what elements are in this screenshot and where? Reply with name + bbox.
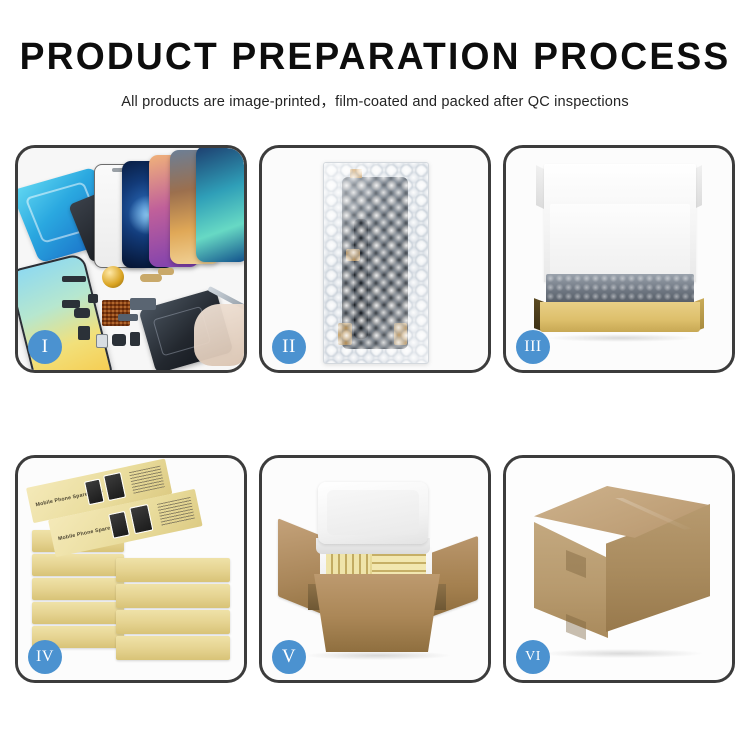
drop-shadow: [542, 649, 702, 658]
foam-sheet: [550, 204, 690, 274]
small-part: [88, 294, 98, 303]
technician-hand: [194, 304, 244, 366]
stacked-box: [116, 584, 230, 608]
small-part: [130, 298, 156, 310]
step-panel-1[interactable]: I: [15, 145, 247, 373]
bubble-wrap-bag: [323, 162, 429, 364]
page-subtitle: All products are image-printed，film-coat…: [0, 90, 750, 111]
small-part: [96, 334, 108, 348]
box-screen-image: [108, 511, 130, 539]
page-header: PRODUCT PREPARATION PROCESS All products…: [0, 0, 750, 111]
small-part: [118, 314, 138, 321]
stacked-box: [116, 636, 230, 660]
small-part: [78, 326, 90, 340]
step-badge-2: II: [272, 330, 306, 364]
box-screen-image: [84, 478, 105, 505]
step-badge-3: III: [516, 330, 550, 364]
step-badge-6: VI: [516, 640, 550, 674]
circuit-board-part: [102, 300, 130, 326]
drop-shadow: [306, 651, 450, 660]
small-part: [62, 276, 86, 282]
bubble-wrapped-contents: [546, 274, 694, 304]
flex-cable-part: [158, 268, 174, 275]
foam-lid: [318, 482, 428, 544]
step-badge-4: IV: [28, 640, 62, 674]
stacked-box: [32, 578, 124, 600]
small-part: [130, 332, 140, 346]
box-spec-lines: [129, 466, 165, 494]
step-panel-5[interactable]: V: [259, 455, 491, 683]
small-part: [74, 308, 90, 318]
plastic-sheen: [324, 163, 428, 363]
step-panel-4[interactable]: Mobile Phone Spare Parts Mobile Phone Sp…: [15, 455, 247, 683]
small-part: [112, 334, 126, 346]
step-panel-6[interactable]: VI: [503, 455, 735, 683]
carton-front-wall: [302, 574, 452, 652]
phone-display-teal: [196, 148, 244, 262]
box-screen-image: [129, 504, 153, 534]
stacked-box: [116, 610, 230, 634]
gold-component: [102, 266, 124, 288]
stacked-box: [32, 554, 124, 576]
flex-cable-part: [140, 274, 162, 282]
page-title: PRODUCT PREPARATION PROCESS: [8, 38, 743, 76]
stacked-box: [32, 602, 124, 624]
step-badge-1: I: [28, 330, 62, 364]
step-panel-3[interactable]: III: [503, 145, 735, 373]
step-panel-2[interactable]: II: [259, 145, 491, 373]
yellow-box-base: [540, 302, 700, 332]
step-badge-5: V: [272, 640, 306, 674]
box-screen-image: [103, 472, 126, 501]
drop-shadow: [546, 334, 696, 342]
box-spec-lines: [157, 497, 195, 527]
small-part: [62, 300, 80, 308]
stacked-box: [116, 558, 230, 582]
process-steps-grid: I II: [15, 145, 735, 683]
